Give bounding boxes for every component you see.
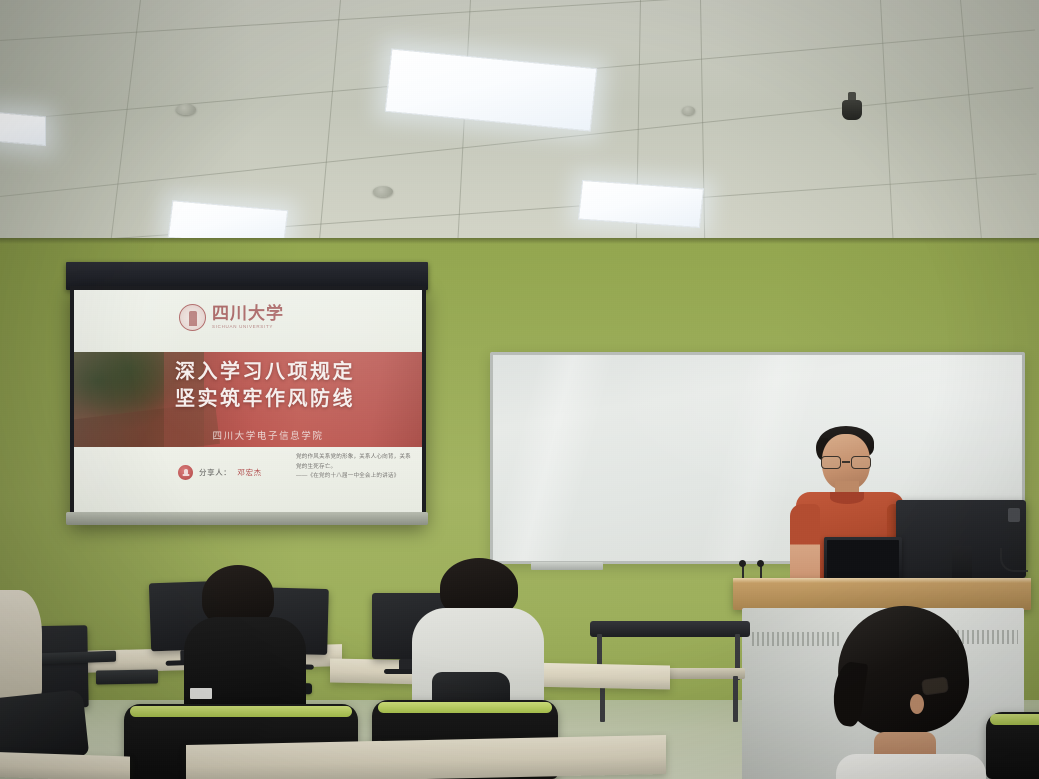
university-name-cn: 四川大学 [212, 306, 284, 323]
slide-title-band: 深入学习八项规定 坚实筑牢作风防线 四川大学电子信息学院 [74, 352, 422, 447]
student-front-right [838, 606, 978, 779]
monitor-cable [1000, 548, 1028, 572]
student-front-right-ear [910, 694, 924, 714]
slide-quote-source: ——《在党的十八届一中全会上的讲话》 [296, 472, 414, 482]
bench-leg-right-lower [733, 676, 738, 722]
microphone-icon [178, 465, 193, 480]
student-nametag [190, 688, 212, 699]
slide-title-line1: 深入学习八项规定 [108, 358, 422, 385]
presenter-name: 邓宏杰 [237, 467, 261, 478]
slide-subtitle: 四川大学电子信息学院 [74, 428, 422, 442]
podium-mic-left [739, 560, 746, 567]
slide-title: 深入学习八项规定 坚实筑牢作风防线 [74, 358, 422, 412]
classroom-photo: 四川大学 SICHUAN UNIVERSITY 深入学习八项规定 坚实筑牢作风防… [0, 0, 1039, 779]
mic-stem-right [760, 566, 762, 578]
presenter-label: 分享人： [199, 467, 231, 478]
slide-presenter-row: 分享人： 邓宏杰 [178, 465, 262, 480]
panel-light-lower-right [578, 180, 704, 228]
presenter-glasses-icon [820, 456, 872, 469]
ceiling [0, 0, 1039, 262]
slide-header: 四川大学 SICHUAN UNIVERSITY [74, 290, 422, 352]
panel-light-top-left [0, 112, 46, 147]
side-bench-top [590, 621, 750, 637]
chair-trim-grey-shirt [378, 702, 552, 713]
desk-front-left [0, 751, 130, 779]
student-far-left [0, 590, 42, 700]
sichuan-university-logo: 四川大学 SICHUAN UNIVERSITY [179, 304, 284, 331]
presentation-slide: 四川大学 SICHUAN UNIVERSITY 深入学习八项规定 坚实筑牢作风防… [74, 290, 422, 512]
university-emblem-icon [179, 304, 206, 331]
podium-mic-right [757, 560, 764, 567]
slide-quote: 党的作风关系党的形象，关系人心向背，关系党的生死存亡。 ——《在党的十八届一中全… [296, 453, 414, 482]
student-black-shirt [186, 565, 306, 725]
slide-title-line2: 坚实筑牢作风防线 [108, 385, 422, 412]
panel-light-top-center [385, 48, 598, 131]
chair-trim-black-shirt [130, 706, 352, 717]
student-far-left-body [0, 590, 42, 700]
monitor-badge-icon [1008, 508, 1020, 522]
slide-quote-text: 党的作风关系党的形象，关系人心向背，关系党的生死存亡。 [296, 454, 411, 470]
sprinkler-center [373, 186, 393, 197]
projector-screen-bottom-bar [66, 512, 428, 525]
student-front-right-shirt [836, 754, 986, 779]
presenter-collar [830, 492, 864, 504]
chair-trim-right-edge [990, 714, 1039, 725]
mic-stem-left [742, 566, 744, 578]
slide-footer: 分享人： 邓宏杰 党的作风关系党的形象，关系人心向背，关系党的生死存亡。 ——《… [74, 447, 422, 512]
university-name-en: SICHUAN UNIVERSITY [212, 325, 284, 330]
keyboard-2 [96, 669, 158, 684]
smoke-detector [682, 106, 695, 115]
sprinkler-left [176, 104, 196, 115]
security-camera [840, 92, 864, 122]
presenter-laptop [824, 537, 902, 584]
podium-monitor-stand [952, 546, 972, 582]
